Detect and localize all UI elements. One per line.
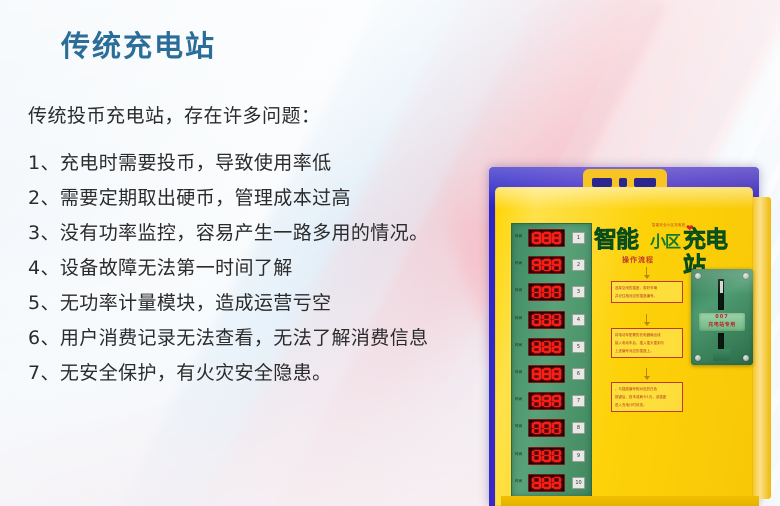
- coin-acceptor[interactable]: 007 充电站专用: [691, 269, 753, 365]
- meter-row: 时间4: [512, 306, 591, 333]
- charging-station-photo: 时间1时间2时间3时间4时间5时间6时间7时间8时间9时间10 智能 智能安全小…: [489, 167, 780, 506]
- meter-time-label: 时间: [515, 424, 522, 429]
- seven-segment-digit: [532, 286, 541, 298]
- seven-segment-digit: [552, 368, 561, 380]
- seven-segment-digit: [542, 286, 551, 298]
- flow-step-box-2: 将电动车配置的充电器输出线接入电动车后，插入插头插到与上述编号对应的插座上。: [611, 328, 683, 358]
- meter-index-button[interactable]: 2: [572, 259, 585, 271]
- flow-step-line: 上述编号对应的插座上。: [615, 348, 676, 354]
- seven-segment-digit: [532, 368, 541, 380]
- meter-led-display: [528, 256, 565, 274]
- handle-slot-3: [634, 178, 656, 187]
- meter-row: 时间7: [512, 387, 591, 414]
- seven-segment-digit: [532, 422, 541, 434]
- meter-row: 时间9: [512, 442, 591, 469]
- seven-segment-digit: [542, 314, 551, 326]
- flow-step-line: 按键后，投币或刷卡1元，该插座: [615, 394, 676, 400]
- seven-segment-digit: [552, 314, 561, 326]
- screw-icon-bottom-right: [743, 355, 749, 361]
- seven-segment-digit: [542, 232, 551, 244]
- handle-slot-1: [592, 178, 612, 187]
- seven-segment-digit: [532, 395, 541, 407]
- meter-row: 时间3: [512, 278, 591, 305]
- seven-segment-digit: [552, 477, 561, 489]
- seven-segment-digit: [552, 259, 561, 271]
- seven-segment-digit: [532, 232, 541, 244]
- screw-icon-bottom-left: [695, 355, 701, 361]
- cabinet-front-face: 时间1时间2时间3时间4时间5时间6时间7时间8时间9时间10 智能 智能安全小…: [495, 187, 753, 506]
- cabinet-side-panel: [751, 197, 771, 499]
- seven-segment-digit: [532, 477, 541, 489]
- seven-segment-digit: [542, 395, 551, 407]
- meter-row: 时间1: [512, 224, 591, 251]
- flow-step-line: 、与插座编号相对应的白色: [615, 386, 676, 392]
- problem-list: 1、充电时需要投币，导致使用率低2、需要定期取出硬币，管理成本过高3、没有功率监…: [28, 146, 429, 391]
- coin-acceptor-model: 007: [699, 313, 745, 321]
- seven-segment-digit: [542, 368, 551, 380]
- flow-step-line: 进入充电计时状态。: [615, 402, 676, 408]
- seven-segment-digit: [552, 341, 561, 353]
- meter-index-button[interactable]: 6: [572, 368, 585, 380]
- meter-index-button[interactable]: 4: [572, 314, 585, 326]
- cabinet-face-gloss: [495, 187, 753, 209]
- seven-segment-digit: [542, 341, 551, 353]
- meter-led-display: [528, 419, 565, 437]
- coin-acceptor-label-plate: 007 充电站专用: [699, 313, 745, 331]
- meter-row: 时间5: [512, 333, 591, 360]
- seven-segment-digit: [552, 232, 561, 244]
- meter-row: 时间2: [512, 251, 591, 278]
- meter-time-label: 时间: [515, 451, 522, 456]
- meter-index-button[interactable]: 3: [572, 286, 585, 298]
- flow-step-line: 选择空闲的插座，带好车辆: [615, 285, 676, 291]
- meter-time-label: 时间: [515, 315, 522, 320]
- seven-segment-digit: [532, 314, 541, 326]
- seven-segment-digit: [552, 450, 561, 462]
- seven-segment-digit: [542, 259, 551, 271]
- meter-index-button[interactable]: 1: [572, 232, 585, 244]
- meter-led-display: [528, 229, 565, 247]
- meter-index-button[interactable]: 5: [572, 341, 585, 353]
- coin-acceptor-label: 充电站专用: [699, 321, 745, 329]
- meter-row: 时间6: [512, 360, 591, 387]
- meter-led-display: [528, 338, 565, 356]
- meter-time-label: 时间: [515, 288, 522, 293]
- meter-index-button[interactable]: 7: [572, 395, 585, 407]
- flow-step-box-3: 、与插座编号相对应的白色按键后，投币或刷卡1元，该插座进入充电计时状态。: [611, 382, 683, 412]
- meter-index-button[interactable]: 8: [572, 422, 585, 434]
- meter-row: 时间8: [512, 414, 591, 441]
- flow-step-line: 并记住相对应的插座编号。: [615, 293, 676, 299]
- meter-led-display: [528, 447, 565, 465]
- meter-row: 时间10: [512, 469, 591, 496]
- meter-led-display: [528, 392, 565, 410]
- problem-list-item: 7、无安全保护，有火灾安全隐患。: [28, 356, 429, 391]
- seven-segment-digit: [542, 422, 551, 434]
- brand-lockup: 智能 智能安全小区充电桩 小区 ❤ 充电站: [594, 227, 746, 253]
- seven-segment-digit: [552, 286, 561, 298]
- page-title: 传统充电站: [61, 32, 216, 61]
- flow-step-line: 接入电动车后，插入插头插到与: [615, 340, 676, 346]
- brand-text-zhineng: 智能: [594, 227, 638, 253]
- meter-led-display: [528, 365, 565, 383]
- seven-segment-digit: [532, 341, 541, 353]
- meter-panel: 时间1时间2时间3时间4时间5时间6时间7时间8时间9时间10: [511, 223, 592, 497]
- handle-slot-2: [619, 178, 627, 187]
- meter-time-label: 时间: [515, 342, 522, 347]
- meter-time-label: 时间: [515, 478, 522, 483]
- seven-segment-digit: [542, 477, 551, 489]
- meter-led-display: [528, 283, 565, 301]
- problem-list-item: 4、设备故障无法第一时间了解: [28, 251, 429, 286]
- meter-time-label: 时间: [515, 233, 522, 238]
- meter-led-display: [528, 311, 565, 329]
- coin-acceptor-gloss: [691, 269, 753, 295]
- meter-time-label: 时间: [515, 260, 522, 265]
- seven-segment-digit: [532, 259, 541, 271]
- problem-list-item: 3、没有功率监控，容易产生一路多用的情况。: [28, 216, 429, 251]
- meter-index-button[interactable]: 10: [572, 477, 585, 489]
- seven-segment-digit: [552, 395, 561, 407]
- meter-time-label: 时间: [515, 369, 522, 374]
- meter-led-display: [528, 474, 565, 492]
- problem-list-item: 2、需要定期取出硬币，管理成本过高: [28, 181, 429, 216]
- flow-step-box-1: 选择空闲的插座，带好车辆并记住相对应的插座编号。: [611, 281, 683, 303]
- seven-segment-digit: [532, 450, 541, 462]
- cabinet-base-strip: [501, 496, 759, 506]
- problem-list-item: 5、无功率计量模块，造成运营亏空: [28, 286, 429, 321]
- lead-paragraph: 传统投币充电站，存在许多问题：: [28, 107, 321, 126]
- brand-text-xiaoqu: 小区: [650, 231, 680, 253]
- seven-segment-digit: [542, 450, 551, 462]
- meter-time-label: 时间: [515, 396, 522, 401]
- coin-return-tray: [713, 349, 730, 361]
- problem-list-item: 6、用户消费记录无法查看，无法了解消费信息: [28, 321, 429, 356]
- seven-segment-digit: [552, 422, 561, 434]
- problem-list-item: 1、充电时需要投币，导致使用率低: [28, 146, 429, 181]
- flow-step-line: 将电动车配置的充电器输出线: [615, 332, 676, 338]
- meter-index-button[interactable]: 9: [572, 450, 585, 462]
- flow-title: 操作流程: [622, 255, 654, 265]
- brand-subtext: 智能安全小区充电桩: [652, 223, 685, 228]
